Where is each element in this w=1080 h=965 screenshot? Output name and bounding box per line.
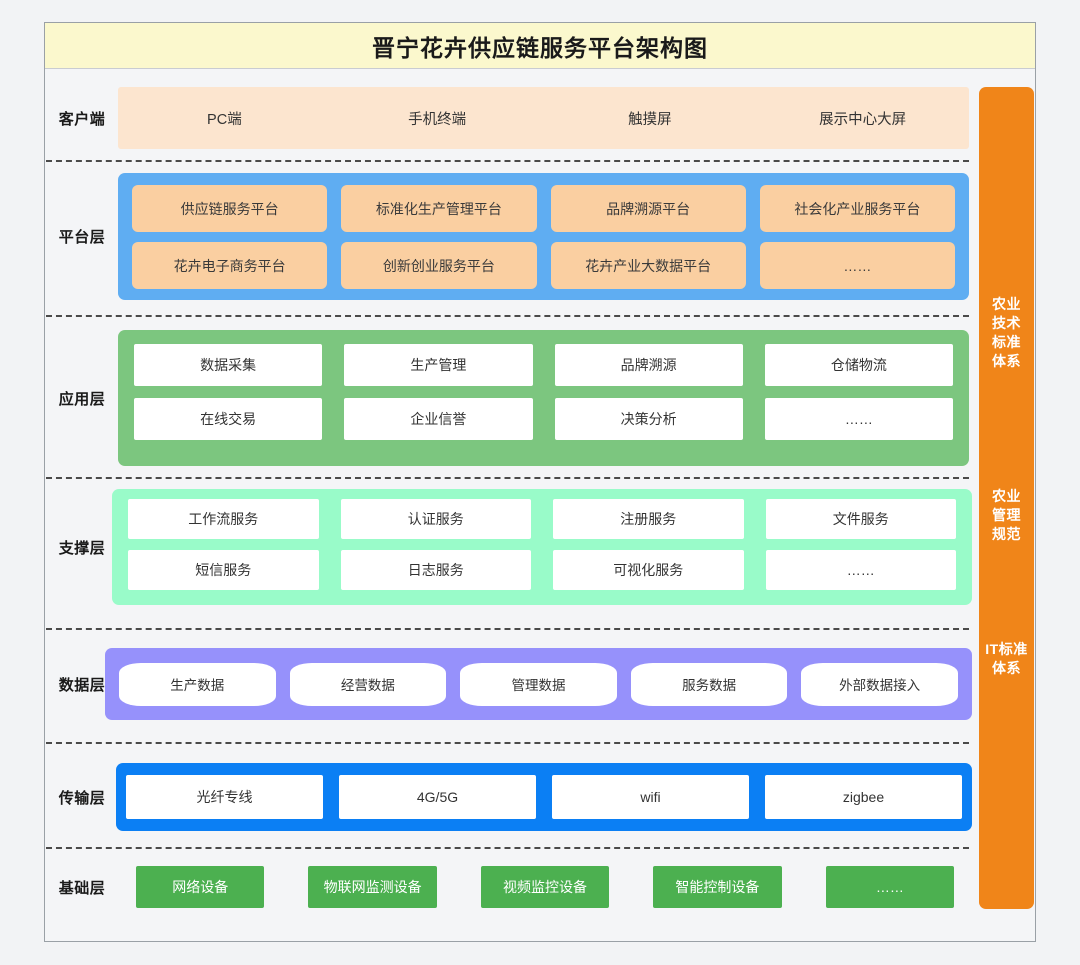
platform-item-more[interactable]: …… <box>760 242 955 289</box>
support-item-file[interactable]: 文件服务 <box>766 499 957 539</box>
standards-item-agri-tech: 农业技术标准体系 <box>979 295 1034 371</box>
support-item-log[interactable]: 日志服务 <box>341 550 532 590</box>
application-item-warehouse[interactable]: 仓储物流 <box>765 344 953 386</box>
infrastructure-item-more[interactable]: …… <box>826 866 954 908</box>
platform-item-innovation[interactable]: 创新创业服务平台 <box>341 242 536 289</box>
support-item-auth[interactable]: 认证服务 <box>341 499 532 539</box>
layer-row: 花卉电子商务平台 创新创业服务平台 花卉产业大数据平台 …… <box>132 242 955 289</box>
layer-row: 在线交易 企业信誉 决策分析 …… <box>134 398 953 440</box>
platform-item-brand-trace[interactable]: 品牌溯源平台 <box>551 185 746 232</box>
layer-label-platform: 平台层 <box>46 173 118 300</box>
application-item-credit[interactable]: 企业信誉 <box>344 398 532 440</box>
infrastructure-item-network[interactable]: 网络设备 <box>136 866 264 908</box>
layer-band-transmission: 光纤专线 4G/5G wifi zigbee <box>116 763 972 831</box>
diagram-title-bar: 晋宁花卉供应链服务平台架构图 <box>45 23 1035 69</box>
transmission-item-4g5g[interactable]: 4G/5G <box>339 775 536 819</box>
layer-row: 短信服务 日志服务 可视化服务 …… <box>128 550 956 590</box>
data-item-service[interactable]: 服务数据 <box>631 663 788 706</box>
layer-label-client: 客户端 <box>46 87 118 149</box>
layer-band-application: 数据采集 生产管理 品牌溯源 仓储物流 在线交易 企业信誉 决策分析 …… <box>118 330 969 466</box>
architecture-diagram-page: 晋宁花卉供应链服务平台架构图 客户端 平台层 应用层 支撑层 数据层 传输层 基… <box>0 0 1080 965</box>
infrastructure-item-control[interactable]: 智能控制设备 <box>653 866 781 908</box>
application-item-data-collection[interactable]: 数据采集 <box>134 344 322 386</box>
page-title: 晋宁花卉供应链服务平台架构图 <box>372 29 708 63</box>
platform-item-social-service[interactable]: 社会化产业服务平台 <box>760 185 955 232</box>
layer-band-platform: 供应链服务平台 标准化生产管理平台 品牌溯源平台 社会化产业服务平台 花卉电子商… <box>118 173 969 300</box>
layer-row: 供应链服务平台 标准化生产管理平台 品牌溯源平台 社会化产业服务平台 <box>132 185 955 232</box>
support-item-more[interactable]: …… <box>766 550 957 590</box>
data-item-external[interactable]: 外部数据接入 <box>801 663 958 706</box>
application-item-online-trade[interactable]: 在线交易 <box>134 398 322 440</box>
support-item-visualization[interactable]: 可视化服务 <box>553 550 744 590</box>
layer-label-transmission: 传输层 <box>46 763 118 831</box>
layer-label-support: 支撑层 <box>46 489 118 605</box>
infrastructure-item-iot[interactable]: 物联网监测设备 <box>308 866 436 908</box>
layer-separator-3 <box>46 477 969 479</box>
data-item-operation[interactable]: 经营数据 <box>290 663 447 706</box>
support-item-sms[interactable]: 短信服务 <box>128 550 319 590</box>
standards-item-agri-mgmt: 农业管理规范 <box>979 487 1034 544</box>
layer-row: 生产数据 经营数据 管理数据 服务数据 外部数据接入 <box>119 663 958 706</box>
application-item-brand-trace[interactable]: 品牌溯源 <box>555 344 743 386</box>
platform-item-ecommerce[interactable]: 花卉电子商务平台 <box>132 242 327 289</box>
data-item-management[interactable]: 管理数据 <box>460 663 617 706</box>
layer-row: 网络设备 物联网监测设备 视频监控设备 智能控制设备 …… <box>136 866 954 908</box>
layer-separator-5 <box>46 742 969 744</box>
layer-band-support: 工作流服务 认证服务 注册服务 文件服务 短信服务 日志服务 可视化服务 …… <box>112 489 972 605</box>
layer-row: 数据采集 生产管理 品牌溯源 仓储物流 <box>134 344 953 386</box>
platform-item-supply-chain[interactable]: 供应链服务平台 <box>132 185 327 232</box>
transmission-item-zigbee[interactable]: zigbee <box>765 775 962 819</box>
platform-item-bigdata[interactable]: 花卉产业大数据平台 <box>551 242 746 289</box>
data-item-production[interactable]: 生产数据 <box>119 663 276 706</box>
client-item-pc[interactable]: PC端 <box>124 87 324 149</box>
layer-band-client: PC端 手机终端 触摸屏 展示中心大屏 <box>118 87 969 149</box>
infrastructure-item-video[interactable]: 视频监控设备 <box>481 866 609 908</box>
client-item-bigscreen[interactable]: 展示中心大屏 <box>763 87 963 149</box>
transmission-item-wifi[interactable]: wifi <box>552 775 749 819</box>
layer-row: 工作流服务 认证服务 注册服务 文件服务 <box>128 499 956 539</box>
layer-band-infrastructure: 网络设备 物联网监测设备 视频监控设备 智能控制设备 …… <box>136 866 954 908</box>
layer-label-infrastructure: 基础层 <box>46 866 118 908</box>
layer-row: PC端 手机终端 触摸屏 展示中心大屏 <box>118 87 969 149</box>
client-item-touch[interactable]: 触摸屏 <box>550 87 750 149</box>
application-item-more[interactable]: …… <box>765 398 953 440</box>
application-item-decision[interactable]: 决策分析 <box>555 398 743 440</box>
support-item-workflow[interactable]: 工作流服务 <box>128 499 319 539</box>
standards-item-it-standard: IT标准体系 <box>979 640 1034 678</box>
layer-row: 光纤专线 4G/5G wifi zigbee <box>126 775 962 819</box>
layer-separator-1 <box>46 160 969 162</box>
layer-separator-6 <box>46 847 969 849</box>
platform-item-standard-prod[interactable]: 标准化生产管理平台 <box>341 185 536 232</box>
layer-separator-4 <box>46 628 969 630</box>
client-item-mobile[interactable]: 手机终端 <box>337 87 537 149</box>
layer-band-data: 生产数据 经营数据 管理数据 服务数据 外部数据接入 <box>105 648 972 720</box>
standards-sidebar: 农业技术标准体系 农业管理规范 IT标准体系 <box>979 87 1034 909</box>
support-item-register[interactable]: 注册服务 <box>553 499 744 539</box>
transmission-item-fiber[interactable]: 光纤专线 <box>126 775 323 819</box>
layer-separator-2 <box>46 315 969 317</box>
layer-label-application: 应用层 <box>46 330 118 466</box>
application-item-production-mgmt[interactable]: 生产管理 <box>344 344 532 386</box>
